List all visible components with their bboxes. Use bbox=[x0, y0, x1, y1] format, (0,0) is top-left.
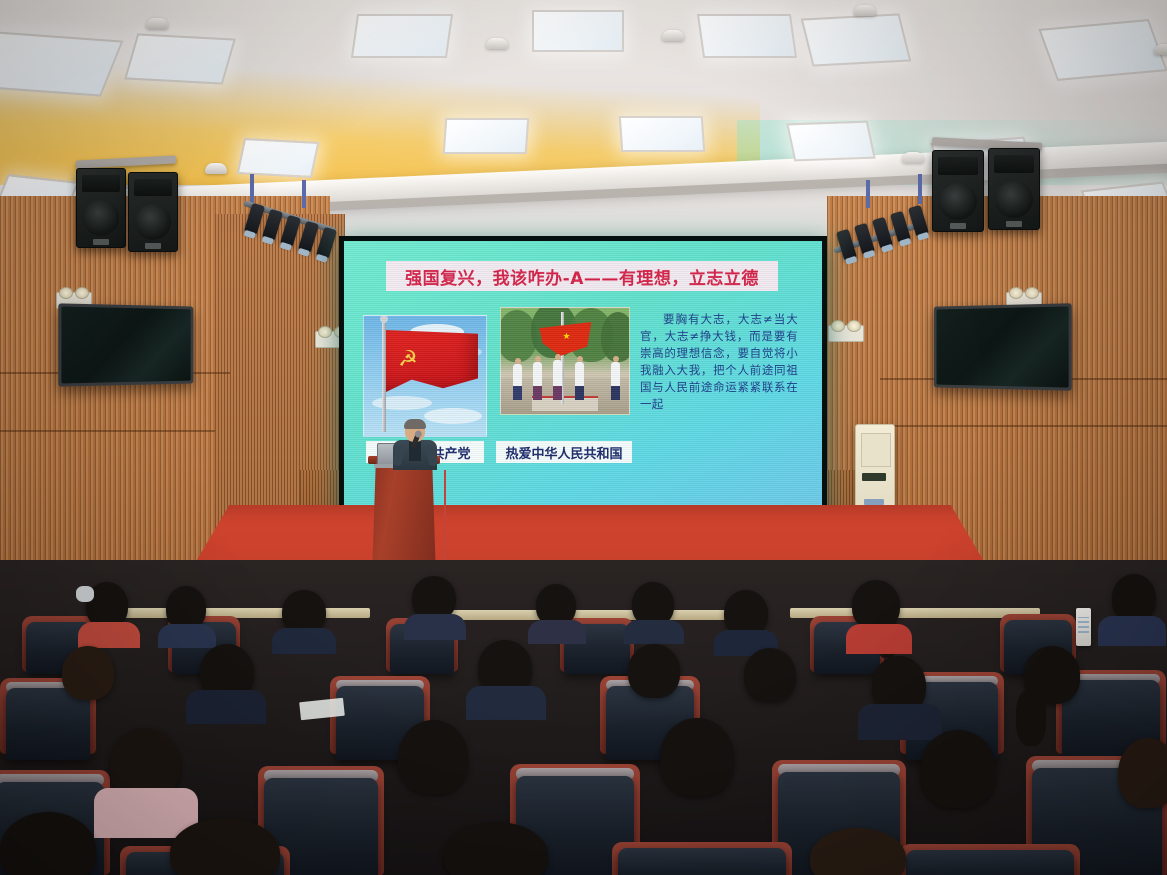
par-can-light bbox=[908, 205, 929, 237]
ceiling-panel-light bbox=[351, 14, 453, 58]
audience-shoulders bbox=[624, 620, 684, 644]
presenter-hair bbox=[404, 419, 426, 429]
audience-shoulders bbox=[158, 624, 216, 648]
smoke-detector bbox=[1154, 44, 1167, 55]
wall-seam bbox=[880, 425, 1167, 427]
audience-head bbox=[62, 646, 114, 700]
ceiling-panel-light bbox=[443, 118, 530, 154]
speaker-horn bbox=[994, 155, 1034, 173]
audience-head bbox=[1112, 574, 1156, 622]
seat bbox=[618, 848, 786, 875]
tree bbox=[601, 312, 630, 362]
ceiling-panel-light bbox=[801, 13, 912, 66]
flag-star-icon: ★ bbox=[562, 332, 570, 341]
milk-carton bbox=[1076, 608, 1091, 646]
slide-body-text: 要胸有大志，大志≠当大官，大志≠挣大钱，而是要有崇高的理想信念，要自觉将小我融入… bbox=[640, 311, 798, 413]
speaker-badge bbox=[950, 223, 966, 229]
audience-shoulders bbox=[404, 614, 466, 640]
audience-shoulders bbox=[186, 690, 266, 724]
slide-title-band: 强国复兴，我该咋办-A——有理想，立志立德 bbox=[386, 261, 778, 291]
ac-brand-logo bbox=[864, 499, 884, 505]
auditorium-photo: 强国复兴，我该咋办-A——有理想，立志立德 ☭ bbox=[0, 0, 1167, 875]
audience-shoulders bbox=[78, 622, 140, 648]
hair-tie bbox=[76, 586, 94, 602]
desk-ledge bbox=[120, 608, 370, 618]
hammer-and-sickle-icon: ☭ bbox=[395, 346, 421, 372]
smoke-detector bbox=[205, 163, 227, 174]
audience-shoulders bbox=[846, 624, 912, 654]
audience-head bbox=[628, 644, 680, 698]
speaker-woofer bbox=[83, 200, 119, 236]
loudspeaker bbox=[988, 148, 1040, 230]
audience-head bbox=[1118, 738, 1167, 808]
ac-display-panel bbox=[862, 473, 886, 481]
audience-shoulders bbox=[528, 620, 586, 644]
smoke-detector bbox=[486, 38, 508, 49]
ceiling-panel-light bbox=[786, 121, 875, 162]
truss-drop-pole bbox=[866, 180, 870, 208]
audience-shoulders bbox=[272, 628, 336, 654]
display-screen bbox=[61, 307, 190, 384]
audience-shoulders bbox=[1098, 616, 1166, 646]
power-cable bbox=[434, 470, 446, 572]
truss-drop-pole bbox=[918, 174, 922, 204]
student-legs bbox=[513, 386, 522, 400]
truss-drop-pole bbox=[250, 174, 254, 204]
par-can-light bbox=[280, 215, 301, 247]
speaker-badge bbox=[93, 239, 108, 244]
wall-seam bbox=[0, 430, 215, 432]
cloud bbox=[372, 396, 432, 410]
emergency-light bbox=[828, 325, 864, 342]
audience-shoulders bbox=[858, 704, 942, 740]
smoke-detector bbox=[146, 18, 168, 29]
speaker-badge bbox=[145, 243, 160, 248]
audience-head bbox=[660, 718, 734, 796]
display-screen bbox=[936, 306, 1068, 387]
audience-head bbox=[744, 648, 796, 702]
student-legs bbox=[575, 386, 584, 400]
audience-head bbox=[920, 730, 996, 808]
stage-lighting-truss bbox=[836, 186, 926, 256]
student-figure bbox=[553, 360, 562, 386]
ceiling-panel-light bbox=[1038, 19, 1167, 81]
party-flag-photo: ☭ bbox=[363, 315, 487, 437]
speaker-horn bbox=[82, 175, 120, 192]
ceiling-panel-light bbox=[532, 10, 624, 52]
speaker-horn bbox=[134, 179, 172, 196]
audience-head bbox=[398, 720, 468, 794]
wall-mounted-display-left bbox=[58, 303, 193, 386]
student-figure bbox=[533, 362, 542, 386]
loudspeaker bbox=[76, 168, 126, 248]
ceiling-panel-light bbox=[124, 33, 236, 84]
speaker-woofer bbox=[939, 183, 977, 220]
par-can-light bbox=[244, 203, 265, 235]
speaker-woofer bbox=[995, 181, 1033, 218]
flag-raising-photo: ★ bbox=[500, 307, 630, 415]
stage-lighting-truss bbox=[244, 186, 334, 256]
student-legs bbox=[611, 386, 620, 400]
par-can-light bbox=[262, 209, 283, 241]
student-figure bbox=[513, 364, 522, 386]
smoke-detector bbox=[902, 152, 924, 163]
ceiling-panel-light bbox=[697, 14, 797, 58]
photo-caption-nation: 热爱中华人民共和国 bbox=[496, 441, 632, 463]
loudspeaker bbox=[932, 150, 984, 232]
truss-drop-pole bbox=[302, 180, 306, 208]
ponytail bbox=[1016, 690, 1046, 746]
speaker-woofer bbox=[135, 204, 171, 240]
slide-title: 强国复兴，我该咋办-A——有理想，立志立德 bbox=[405, 264, 759, 289]
par-can-light bbox=[298, 221, 319, 253]
student-figure bbox=[575, 362, 584, 386]
smoke-detector bbox=[854, 5, 876, 16]
seat bbox=[906, 850, 1074, 875]
wall-mounted-display-right bbox=[934, 303, 1072, 391]
ceiling-panel-light bbox=[237, 138, 320, 178]
flag-pole bbox=[382, 320, 386, 432]
student-legs bbox=[533, 386, 542, 400]
student-legs bbox=[553, 386, 562, 400]
presenter bbox=[393, 420, 437, 468]
ceiling-panel-light bbox=[619, 116, 706, 152]
loudspeaker bbox=[128, 172, 178, 252]
speaker-badge bbox=[1006, 221, 1022, 227]
student-figure bbox=[611, 362, 620, 386]
audience-shoulders bbox=[466, 686, 546, 720]
audience-area bbox=[0, 560, 1167, 875]
speaker-horn bbox=[938, 157, 978, 175]
smoke-detector bbox=[662, 30, 684, 41]
ac-intake-grill bbox=[861, 433, 891, 467]
par-can-light bbox=[316, 227, 337, 259]
